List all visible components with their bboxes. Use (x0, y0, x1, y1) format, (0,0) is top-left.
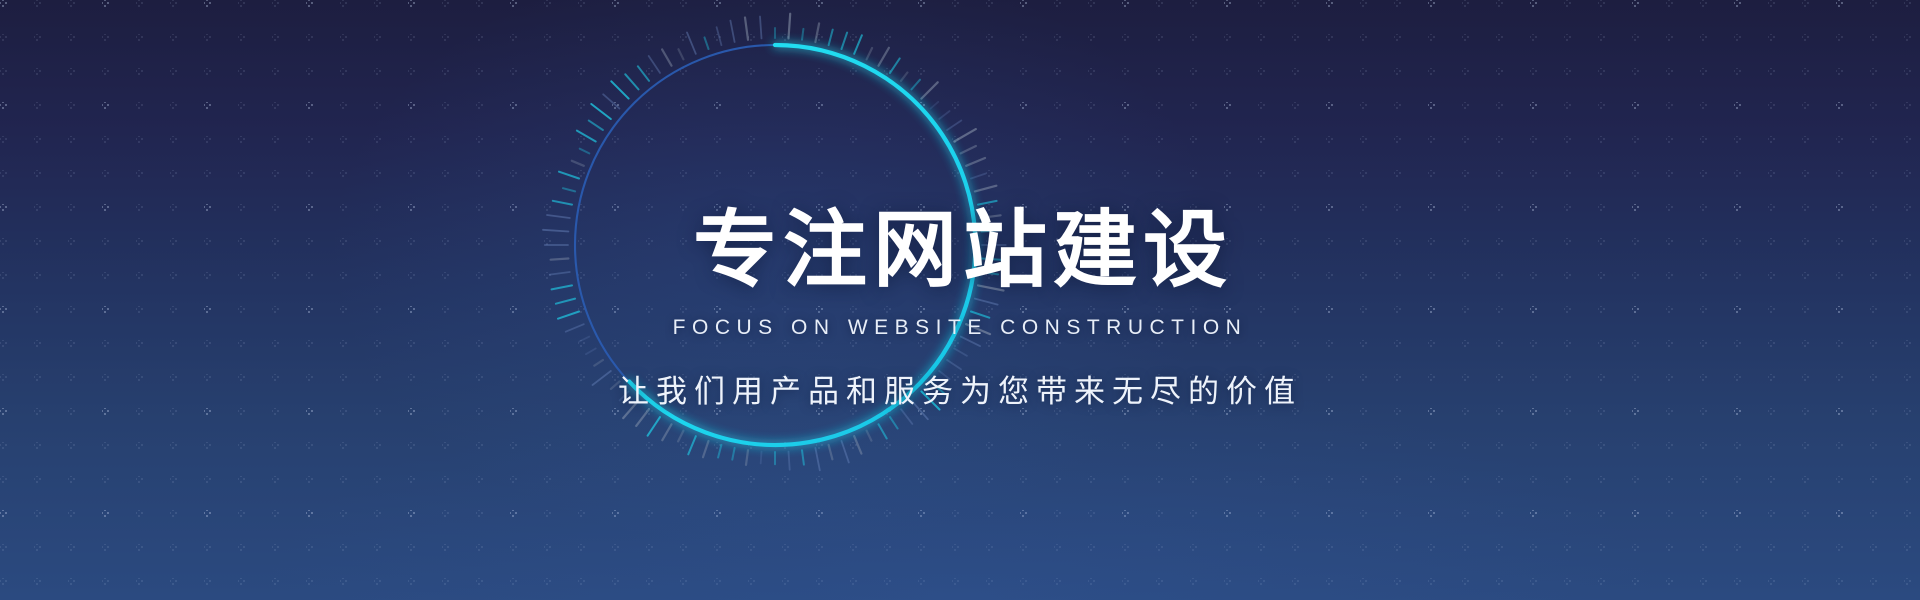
hero-banner: 专注网站建设 FOCUS ON WEBSITE CONSTRUCTION 让我们… (0, 0, 1920, 600)
banner-tagline: 让我们用产品和服务为您带来无尽的价值 (618, 366, 1302, 411)
banner-copy: 专注网站建设 FOCUS ON WEBSITE CONSTRUCTION 让我们… (0, 0, 1920, 600)
banner-subtitle-english: FOCUS ON WEBSITE CONSTRUCTION (673, 316, 1248, 340)
page-title: 专注网站建设 (693, 208, 1233, 292)
